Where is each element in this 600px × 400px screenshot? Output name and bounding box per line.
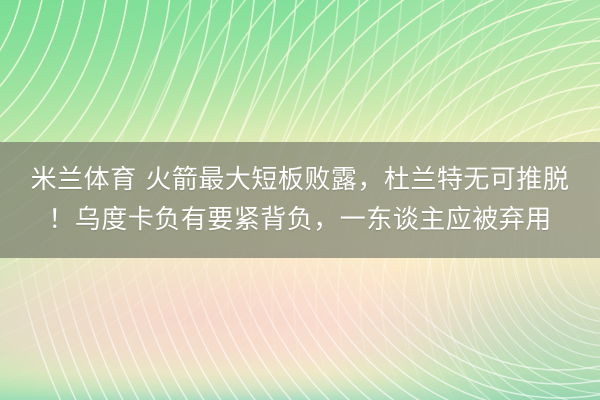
banner-image: 米兰体育 火箭最大短板败露，杜兰特无可推脱 ！乌度卡负有要紧背负，一东谈主应被弃… [0,0,600,400]
headline-line-1: 米兰体育 火箭最大短板败露，杜兰特无可推脱 [31,163,570,197]
headline-line-2: ！乌度卡负有要紧背负，一东谈主应被弃用 [48,203,552,237]
headline-text-block: 米兰体育 火箭最大短板败露，杜兰特无可推脱 ！乌度卡负有要紧背负，一东谈主应被弃… [0,142,600,258]
